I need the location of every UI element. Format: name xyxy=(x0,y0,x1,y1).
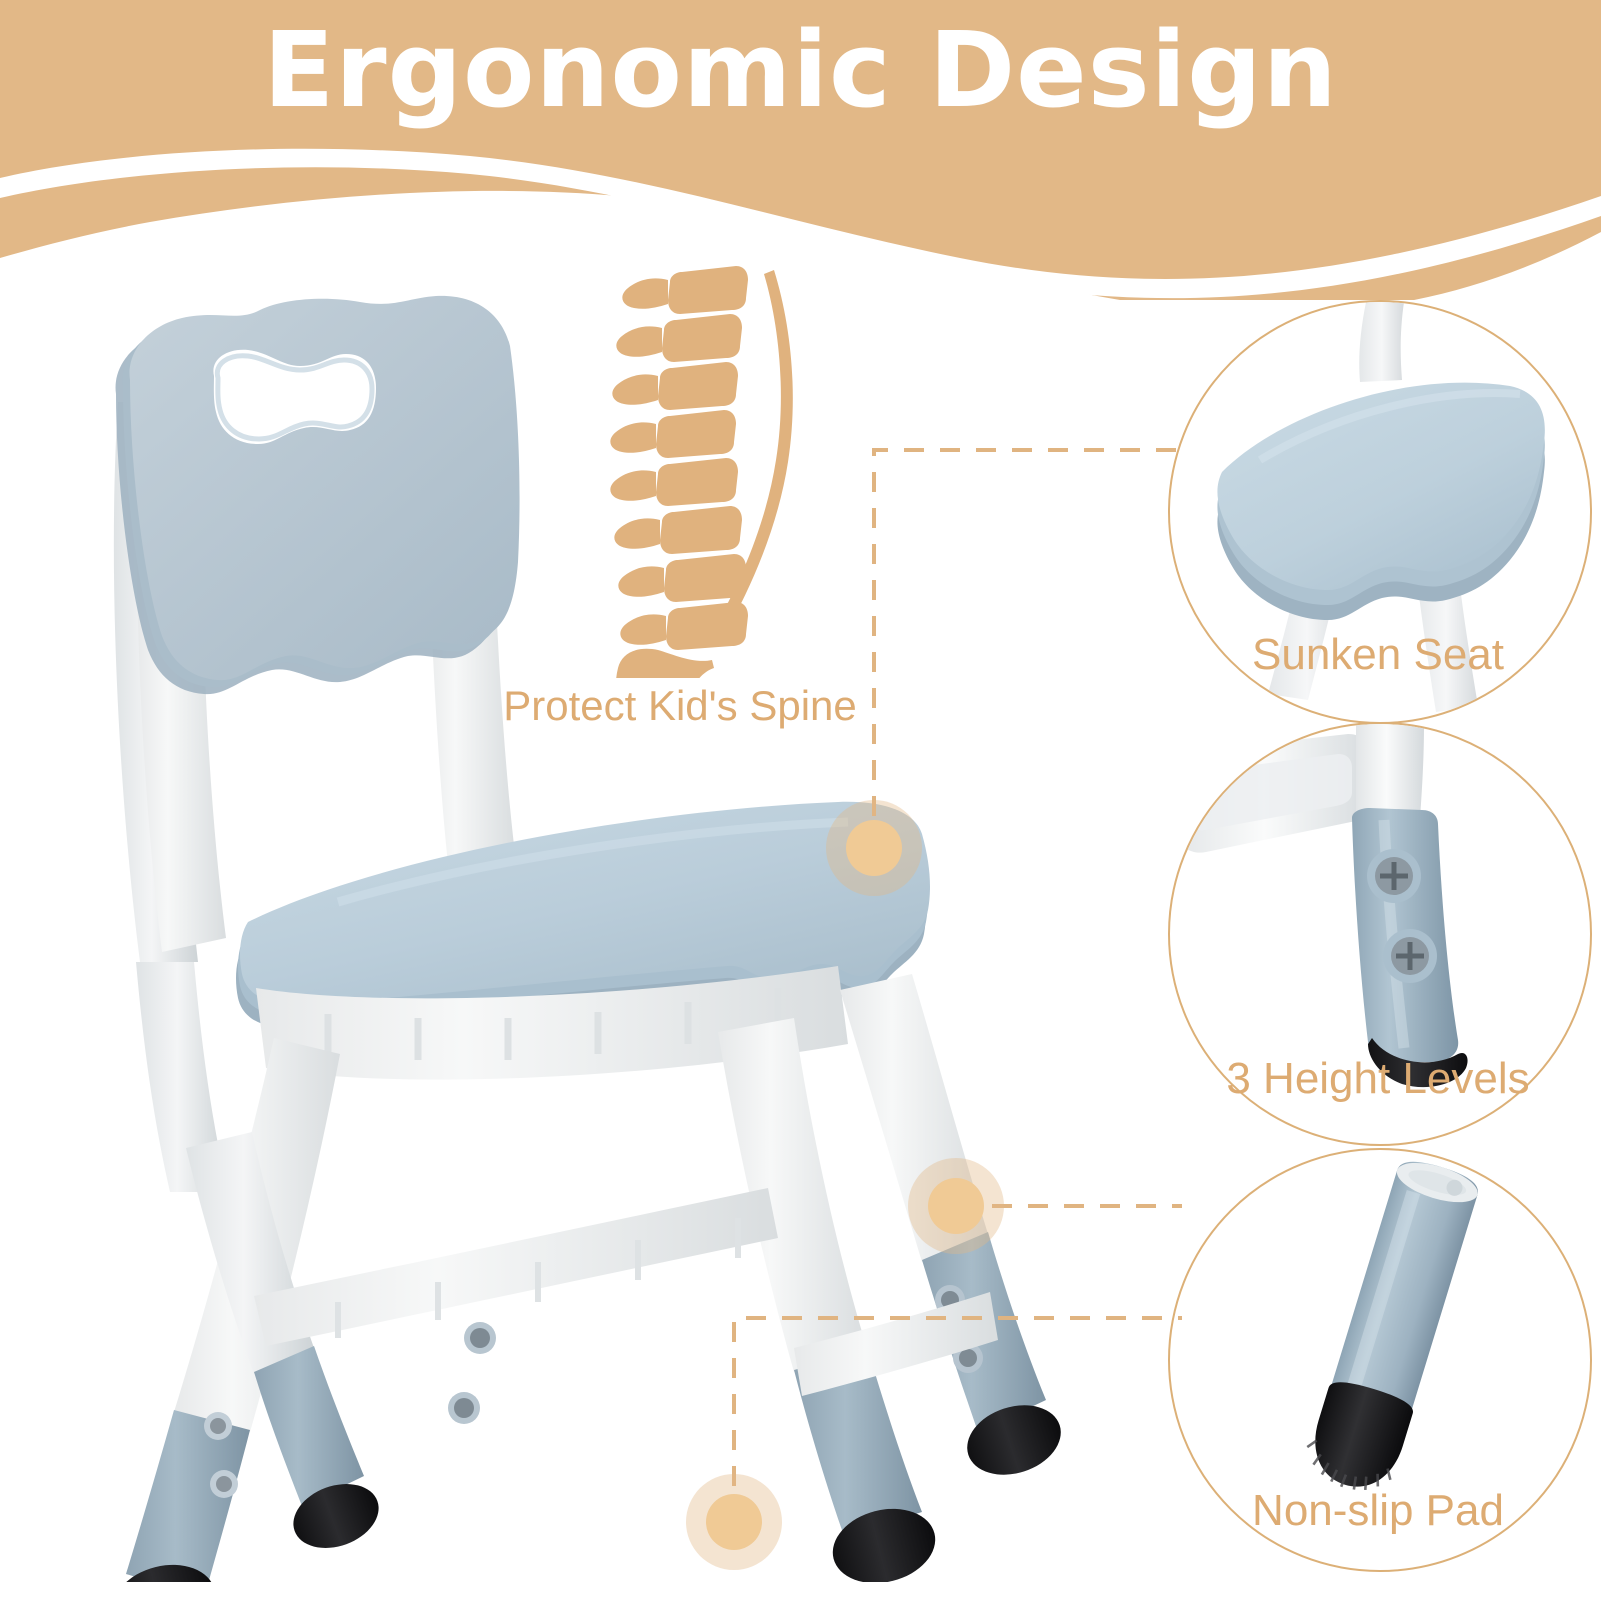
spine-feature-label: Protect Kid's Spine xyxy=(460,682,900,730)
infographic-stage: Ergonomic Design xyxy=(0,0,1601,1601)
callout-label: 3 Height Levels xyxy=(1168,1054,1588,1104)
callout-label: Non-slip Pad xyxy=(1168,1486,1588,1536)
chair-cross-braces xyxy=(254,1188,998,1396)
spine-icon xyxy=(530,258,830,678)
header-banner: Ergonomic Design xyxy=(0,0,1601,300)
hotspot-nonslip-pad[interactable] xyxy=(686,1474,782,1570)
hotspot-core xyxy=(928,1178,984,1234)
vertebra-group xyxy=(610,266,748,650)
chair-backrest xyxy=(116,296,520,694)
callout-label: Sunken Seat xyxy=(1168,630,1588,680)
page-title: Ergonomic Design xyxy=(0,16,1601,125)
hotspot-height-levels[interactable] xyxy=(908,1158,1004,1254)
hotspot-core xyxy=(706,1494,762,1550)
hotspot-sunken-seat[interactable] xyxy=(826,800,922,896)
spine-feature-block: Protect Kid's Spine xyxy=(470,258,890,758)
hotspot-core xyxy=(846,820,902,876)
